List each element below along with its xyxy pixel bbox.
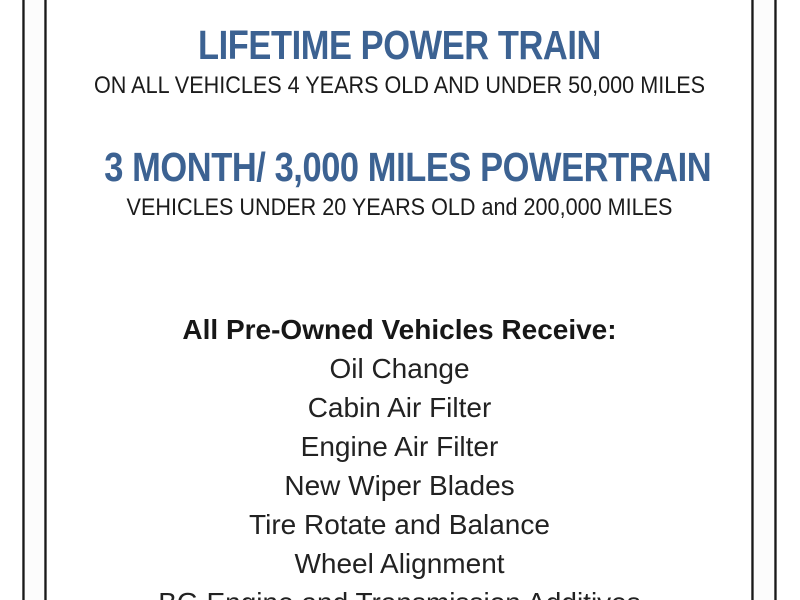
right-inner-rule (751, 0, 754, 600)
three-month-powertrain-headline: 3 MONTH/ 3,000 MILES POWERTRAIN (104, 145, 695, 189)
content-column: LIFETIME POWER TRAIN ON ALL VEHICLES 4 Y… (48, 0, 751, 600)
list-item: Wheel Alignment (48, 544, 751, 583)
warranty-block-three-month: 3 MONTH/ 3,000 MILES POWERTRAIN VEHICLES… (48, 145, 751, 223)
list-item: New Wiper Blades (48, 466, 751, 505)
left-gutter (25, 0, 44, 600)
services-title: All Pre-Owned Vehicles Receive: (48, 311, 751, 349)
services-list: Oil Change Cabin Air Filter Engine Air F… (48, 349, 751, 600)
list-item: Cabin Air Filter (48, 388, 751, 427)
right-gutter (754, 0, 774, 600)
list-item: Engine Air Filter (48, 427, 751, 466)
lifetime-powertrain-subhead: ON ALL VEHICLES 4 YEARS OLD AND UNDER 50… (83, 71, 716, 101)
right-outer-rule (774, 0, 777, 600)
flyer-page: LIFETIME POWER TRAIN ON ALL VEHICLES 4 Y… (0, 0, 800, 600)
list-item: Tire Rotate and Balance (48, 505, 751, 544)
list-item: Oil Change (48, 349, 751, 388)
warranty-block-lifetime: LIFETIME POWER TRAIN ON ALL VEHICLES 4 Y… (48, 23, 751, 101)
services-section: All Pre-Owned Vehicles Receive: Oil Chan… (48, 311, 751, 600)
list-item: BG Engine and Transmission Additives (48, 583, 751, 600)
lifetime-powertrain-headline: LIFETIME POWER TRAIN (104, 23, 695, 67)
three-month-powertrain-subhead: VEHICLES UNDER 20 YEARS OLD and 200,000 … (83, 193, 716, 223)
left-outer-rule (22, 0, 25, 600)
left-inner-rule (44, 0, 47, 600)
